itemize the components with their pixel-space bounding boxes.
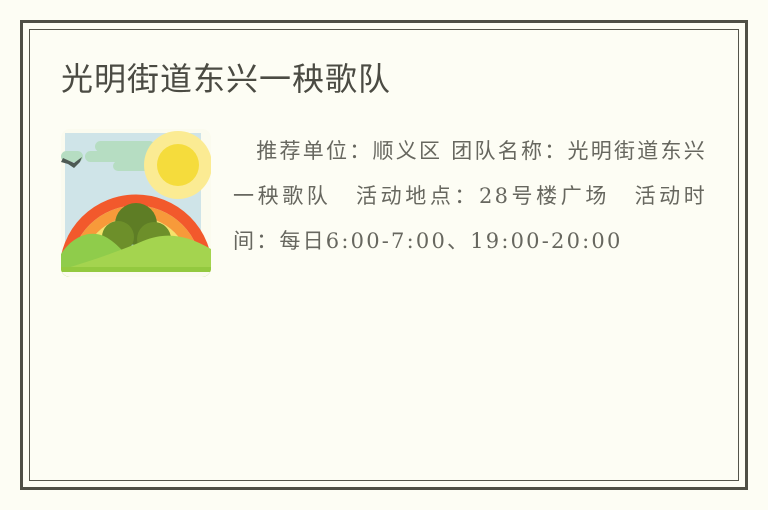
page-title: 光明街道东兴一秧歌队 xyxy=(61,57,707,101)
sun-icon xyxy=(144,131,211,199)
page-root: 光明街道东兴一秧歌队 xyxy=(0,0,768,510)
article-body: 推荐单位：顺义区 团队名称：光明街道东兴一秧歌队 活动地点：28号楼广场 活动时… xyxy=(61,123,707,264)
rainbow-landscape-illustration xyxy=(61,129,211,277)
illustration-svg xyxy=(61,129,211,277)
article-content: 光明街道东兴一秧歌队 xyxy=(29,29,739,481)
